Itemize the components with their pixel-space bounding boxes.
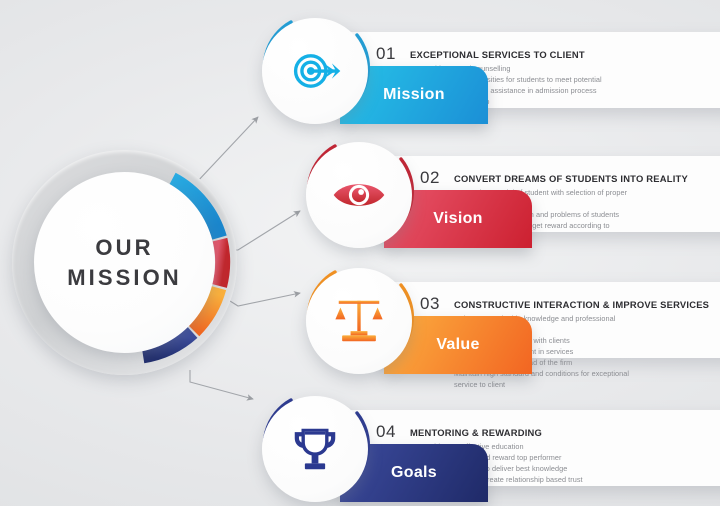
value-badge	[306, 268, 412, 374]
mission-number: 01	[376, 44, 410, 64]
infographic-canvas: OUR MISSION 01 EXCEPTIONAL SERVICES TO C…	[0, 0, 720, 506]
mission-tab-label: Mission	[383, 86, 445, 104]
mission-card-head: 01 EXCEPTIONAL SERVICES TO CLIENT	[376, 44, 585, 64]
hub-center-disc: OUR MISSION	[34, 172, 215, 353]
vision-card-head: 02 CONVERT DREAMS OF STUDENTS INTO REALI…	[420, 168, 688, 188]
target-arrow-icon	[288, 44, 342, 98]
vision-number: 02	[420, 168, 454, 188]
trophy-icon	[288, 422, 342, 476]
mission-badge	[262, 18, 368, 124]
eye-icon	[332, 168, 386, 222]
value-title: CONSTRUCTIVE INTERACTION & IMPROVE SERVI…	[454, 299, 709, 310]
goals-tab-label: Goals	[391, 464, 437, 482]
value-card-head: 03 CONSTRUCTIVE INTERACTION & IMPROVE SE…	[420, 294, 709, 314]
ring-segment-vision	[220, 240, 223, 286]
page-title: OUR MISSION	[67, 233, 182, 291]
mission-title: EXCEPTIONAL SERVICES TO CLIENT	[410, 49, 585, 60]
vision-badge	[306, 142, 412, 248]
vision-tab-label: Vision	[433, 210, 483, 228]
goals-title: MENTORING & REWARDING	[410, 427, 542, 438]
value-tab-label: Value	[436, 336, 479, 354]
balance-scale-icon	[332, 294, 386, 348]
value-number: 03	[420, 294, 454, 314]
vision-title: CONVERT DREAMS OF STUDENTS INTO REALITY	[454, 173, 688, 184]
goals-card-head: 04 MENTORING & REWARDING	[376, 422, 542, 442]
center-hub: OUR MISSION	[12, 150, 237, 375]
goals-number: 04	[376, 422, 410, 442]
goals-badge	[262, 396, 368, 502]
